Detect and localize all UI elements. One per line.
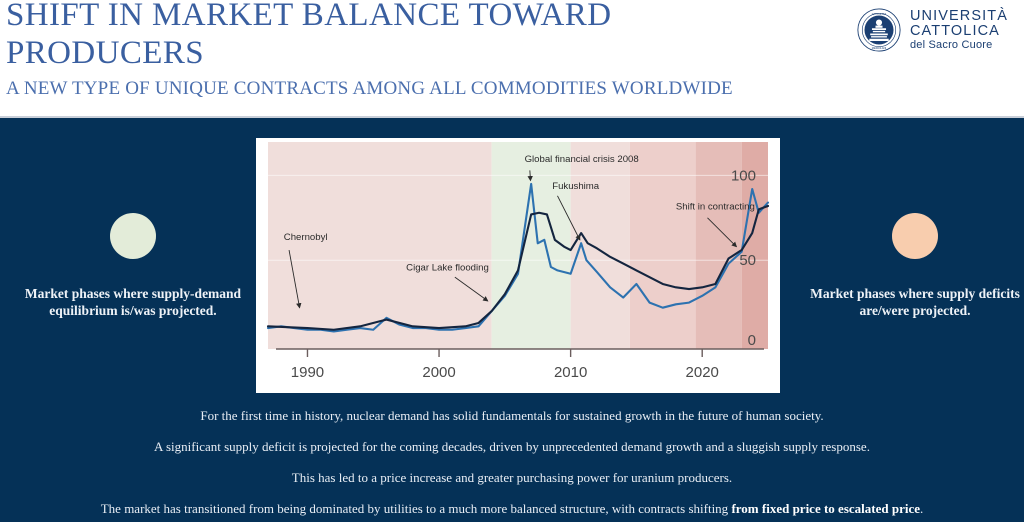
chart-xtick-label-2020: 2020 xyxy=(686,364,719,381)
chart-xtick-label-2000: 2000 xyxy=(422,364,455,381)
bullet-1: For the first time in history, nuclear d… xyxy=(0,408,1024,424)
logo-line-3: del Sacro Cuore xyxy=(910,40,1008,51)
chart-band-0 xyxy=(268,142,492,349)
chart-band-1 xyxy=(492,142,571,349)
chart-annotation-4: Shift in contracting xyxy=(676,201,755,212)
bullet-3-text: This has led to a price increase and gre… xyxy=(292,470,732,485)
legend-deficit: Market phases where supply deficits are/… xyxy=(800,213,1024,319)
bullet-3: This has led to a price increase and gre… xyxy=(0,470,1024,486)
university-seal-icon: CATTOLICA MEDIOLANI xyxy=(857,8,901,52)
slide-header: SHIFT IN MARKET BALANCE TOWARD PRODUCERS… xyxy=(0,0,1024,118)
bullet-4-bold: from fixed price to escalated price xyxy=(731,501,920,516)
chart-card: 1990200020102020050100ChernobylCigar Lak… xyxy=(256,138,780,393)
bullet-4-text: The market has transitioned from being d… xyxy=(101,501,732,516)
chart-annotation-0: Chernobyl xyxy=(284,232,328,243)
chart-ytick-label-100: 100 xyxy=(731,167,756,184)
legend-dot-peach xyxy=(892,213,938,259)
bullet-list: For the first time in history, nuclear d… xyxy=(0,404,1024,532)
chart-annotation-1: Cigar Lake flooding xyxy=(406,262,489,273)
chart-ytick-label-0: 0 xyxy=(748,332,756,349)
page-title: SHIFT IN MARKET BALANCE TOWARD PRODUCERS xyxy=(6,0,726,72)
chart-band-3 xyxy=(630,142,696,349)
chart-annotation-3: Fukushima xyxy=(552,181,600,192)
page-subtitle: A NEW TYPE OF UNIQUE CONTRACTS AMONG ALL… xyxy=(6,78,826,100)
legend-dot-green xyxy=(110,213,156,259)
bullet-4-tail: . xyxy=(920,501,923,516)
logo-line-1: UNIVERSITÀ xyxy=(910,9,1008,24)
uranium-price-chart: 1990200020102020050100ChernobylCigar Lak… xyxy=(260,142,776,389)
svg-text:MEDIOLANI: MEDIOLANI xyxy=(872,46,887,50)
chart-xtick-label-2010: 2010 xyxy=(554,364,587,381)
chart-xtick-label-1990: 1990 xyxy=(291,364,324,381)
legend-label-equilibrium: Market phases where supply-demand equili… xyxy=(18,285,248,319)
chart-ytick-label-50: 50 xyxy=(739,252,756,269)
legend-label-deficit: Market phases where supply deficits are/… xyxy=(800,285,1024,319)
logo-wordmark: UNIVERSITÀ CATTOLICA del Sacro Cuore xyxy=(910,9,1008,51)
bullet-2-text: A significant supply deficit is projecte… xyxy=(154,439,870,454)
university-logo: CATTOLICA MEDIOLANI UNIVERSITÀ CATTOLICA… xyxy=(857,8,1008,52)
logo-line-2: CATTOLICA xyxy=(910,24,1008,39)
bullet-4: The market has transitioned from being d… xyxy=(0,501,1024,517)
bullet-1-text: For the first time in history, nuclear d… xyxy=(200,408,823,423)
chart-plot-area: 1990200020102020050100ChernobylCigar Lak… xyxy=(260,142,776,389)
bullet-2: A significant supply deficit is projecte… xyxy=(0,439,1024,455)
svg-text:CATTOLICA: CATTOLICA xyxy=(872,12,887,16)
slide-root: SHIFT IN MARKET BALANCE TOWARD PRODUCERS… xyxy=(0,0,1024,522)
legend-equilibrium: Market phases where supply-demand equili… xyxy=(18,213,248,319)
chart-annotation-2: Global financial crisis 2008 xyxy=(525,154,639,165)
